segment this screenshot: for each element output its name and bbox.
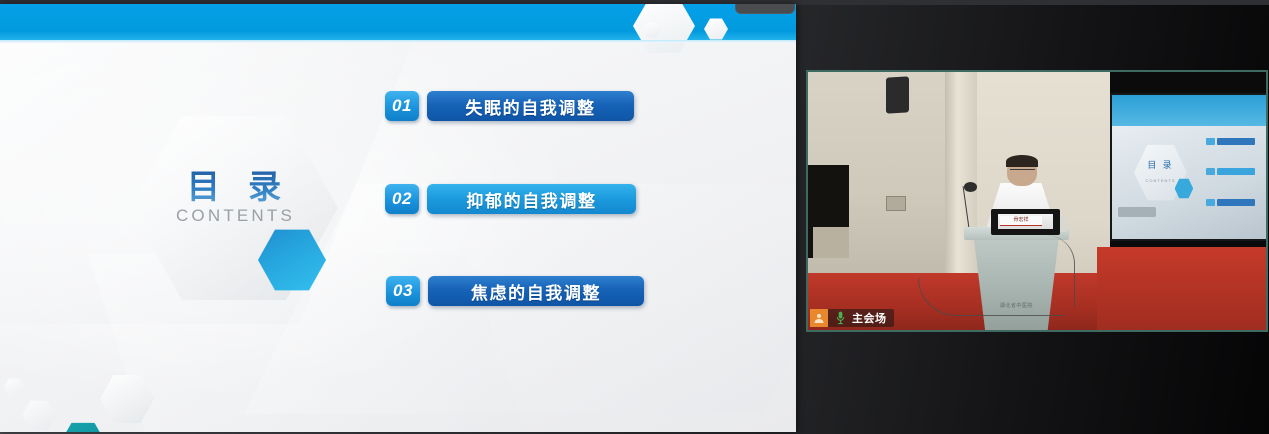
agenda-item-label: 焦虑的自我调整 — [428, 276, 644, 306]
screen-slide-item-1 — [1206, 138, 1255, 145]
wall-socket-icon — [886, 196, 906, 211]
agenda-item-2[interactable]: 02 抑郁的自我调整 — [385, 184, 636, 214]
screen-slide-item-3 — [1206, 199, 1255, 206]
screen-item-badge — [1206, 138, 1215, 145]
nameplate-text: 骨宏祥 — [1000, 216, 1041, 225]
app-root: 目 录 CONTENTS 01 失眠的自我调整 02 抑郁的自我调整 03 焦虑… — [0, 0, 1269, 434]
agenda-number-badge: 03 — [386, 276, 420, 306]
screen-slide-title: 目 录 — [1134, 158, 1187, 171]
participant-name: 主会场 — [852, 310, 887, 326]
presentation-slide[interactable]: 目 录 CONTENTS 01 失眠的自我调整 02 抑郁的自我调整 03 焦虑… — [0, 4, 796, 432]
wall-speaker-icon — [886, 77, 909, 114]
screen-item-badge — [1206, 199, 1215, 206]
window-titlebar-chip — [735, 4, 795, 14]
video-stage-floor-right — [1097, 247, 1266, 330]
screen-slide-item-2 — [1206, 168, 1255, 175]
screen-item-bar — [1217, 199, 1255, 206]
participant-label[interactable]: 主会场 — [810, 309, 894, 327]
contents-subtitle: CONTENTS — [130, 206, 338, 226]
water-bottle — [1060, 216, 1067, 231]
person-avatar-icon — [810, 309, 828, 327]
screen-item-badge — [1206, 168, 1215, 175]
speaker-hair — [1006, 155, 1038, 168]
agenda-number-badge: 01 — [385, 91, 419, 121]
agenda-item-1[interactable]: 01 失眠的自我调整 — [385, 91, 634, 121]
screen-slide-decorative-chip — [1118, 207, 1155, 217]
banner-bottom-edge — [0, 40, 796, 43]
video-alcove-shelf — [813, 227, 850, 258]
video-wall-pillar — [945, 72, 977, 273]
screen-slide-banner — [1112, 95, 1268, 127]
video-tile-main-venue[interactable]: 目 录 CONTENTS 湖北省中医院 — [806, 70, 1268, 332]
screen-item-bar — [1217, 168, 1255, 175]
floor-cable — [918, 278, 1066, 315]
contents-hexagon: 目 录 CONTENTS — [130, 114, 340, 304]
agenda-number-badge: 02 — [385, 184, 419, 214]
microphone-icon — [832, 311, 848, 325]
speaker-glasses-icon — [1010, 169, 1035, 175]
agenda-item-3[interactable]: 03 焦虑的自我调整 — [386, 276, 644, 306]
projection-screen: 目 录 CONTENTS — [1110, 93, 1268, 241]
agenda-item-label: 抑郁的自我调整 — [427, 184, 636, 214]
agenda-item-label: 失眠的自我调整 — [427, 91, 634, 121]
contents-title: 目 录 — [130, 160, 338, 208]
screen-item-bar — [1217, 138, 1255, 145]
